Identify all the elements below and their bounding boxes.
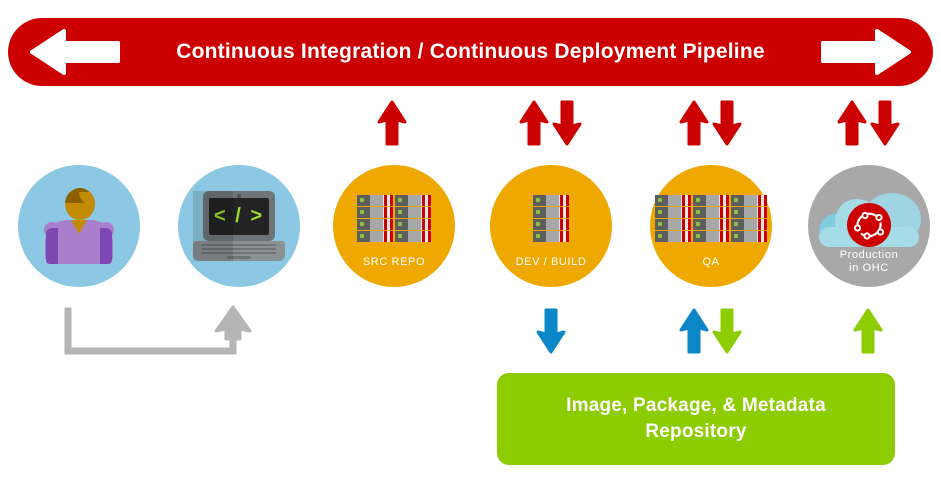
node-dev-build[interactable]: DEV / BUILD <box>490 165 612 287</box>
page-title: Continuous Integration / Continuous Depl… <box>176 40 765 64</box>
node-workstation[interactable]: < / > <box>178 165 300 287</box>
arrow-up-qa-icon <box>679 100 709 146</box>
repository-label-line2: Repository <box>566 419 826 445</box>
arrow-down-qa-icon <box>712 100 742 146</box>
arrow-right-icon <box>821 29 911 75</box>
elbow-arrow-icon <box>60 305 255 360</box>
arrow-up-repo-to-qa-icon <box>679 308 709 354</box>
repository-box[interactable]: Image, Package, & Metadata Repository <box>497 373 895 465</box>
arrow-down-production-icon <box>870 100 900 146</box>
arrow-down-dev-build-icon <box>552 100 582 146</box>
arrow-down-dev-build-to-repo-icon <box>536 308 566 354</box>
node-label-dev-build: DEV / BUILD <box>490 256 612 269</box>
arrow-up-repo-to-production-icon <box>853 308 883 354</box>
code-glyph: < / > <box>214 205 264 228</box>
repository-label-line1: Image, Package, & Metadata <box>566 393 826 419</box>
person-icon <box>42 188 116 264</box>
arrow-up-src-repo-icon <box>377 100 407 146</box>
arrow-left-icon <box>30 29 120 75</box>
server-rack-icon <box>655 195 767 242</box>
node-src-repo[interactable]: SRC REPO <box>333 165 455 287</box>
arrow-up-dev-build-icon <box>519 100 549 146</box>
cloud-openshift-icon <box>817 187 921 249</box>
node-label-qa: QA <box>650 256 772 269</box>
openshift-logo-icon <box>847 203 891 247</box>
node-label-production-line2: in OHC <box>808 262 930 275</box>
laptop-code-icon: < / > <box>193 191 285 261</box>
node-developer[interactable] <box>18 165 140 287</box>
node-label-src-repo: SRC REPO <box>333 256 455 269</box>
pipeline-banner: Continuous Integration / Continuous Depl… <box>8 18 933 86</box>
repository-label: Image, Package, & Metadata Repository <box>566 393 826 445</box>
node-qa[interactable]: QA <box>650 165 772 287</box>
diagram-canvas: Continuous Integration / Continuous Depl… <box>0 0 941 500</box>
server-rack-icon <box>357 195 431 242</box>
node-production[interactable]: Production in OHC <box>808 165 930 287</box>
arrow-down-qa-to-repo-icon <box>712 308 742 354</box>
node-label-production-line1: Production <box>808 249 930 262</box>
server-rack-icon <box>533 195 569 242</box>
arrow-up-production-icon <box>837 100 867 146</box>
node-label-production: Production in OHC <box>808 249 930 275</box>
